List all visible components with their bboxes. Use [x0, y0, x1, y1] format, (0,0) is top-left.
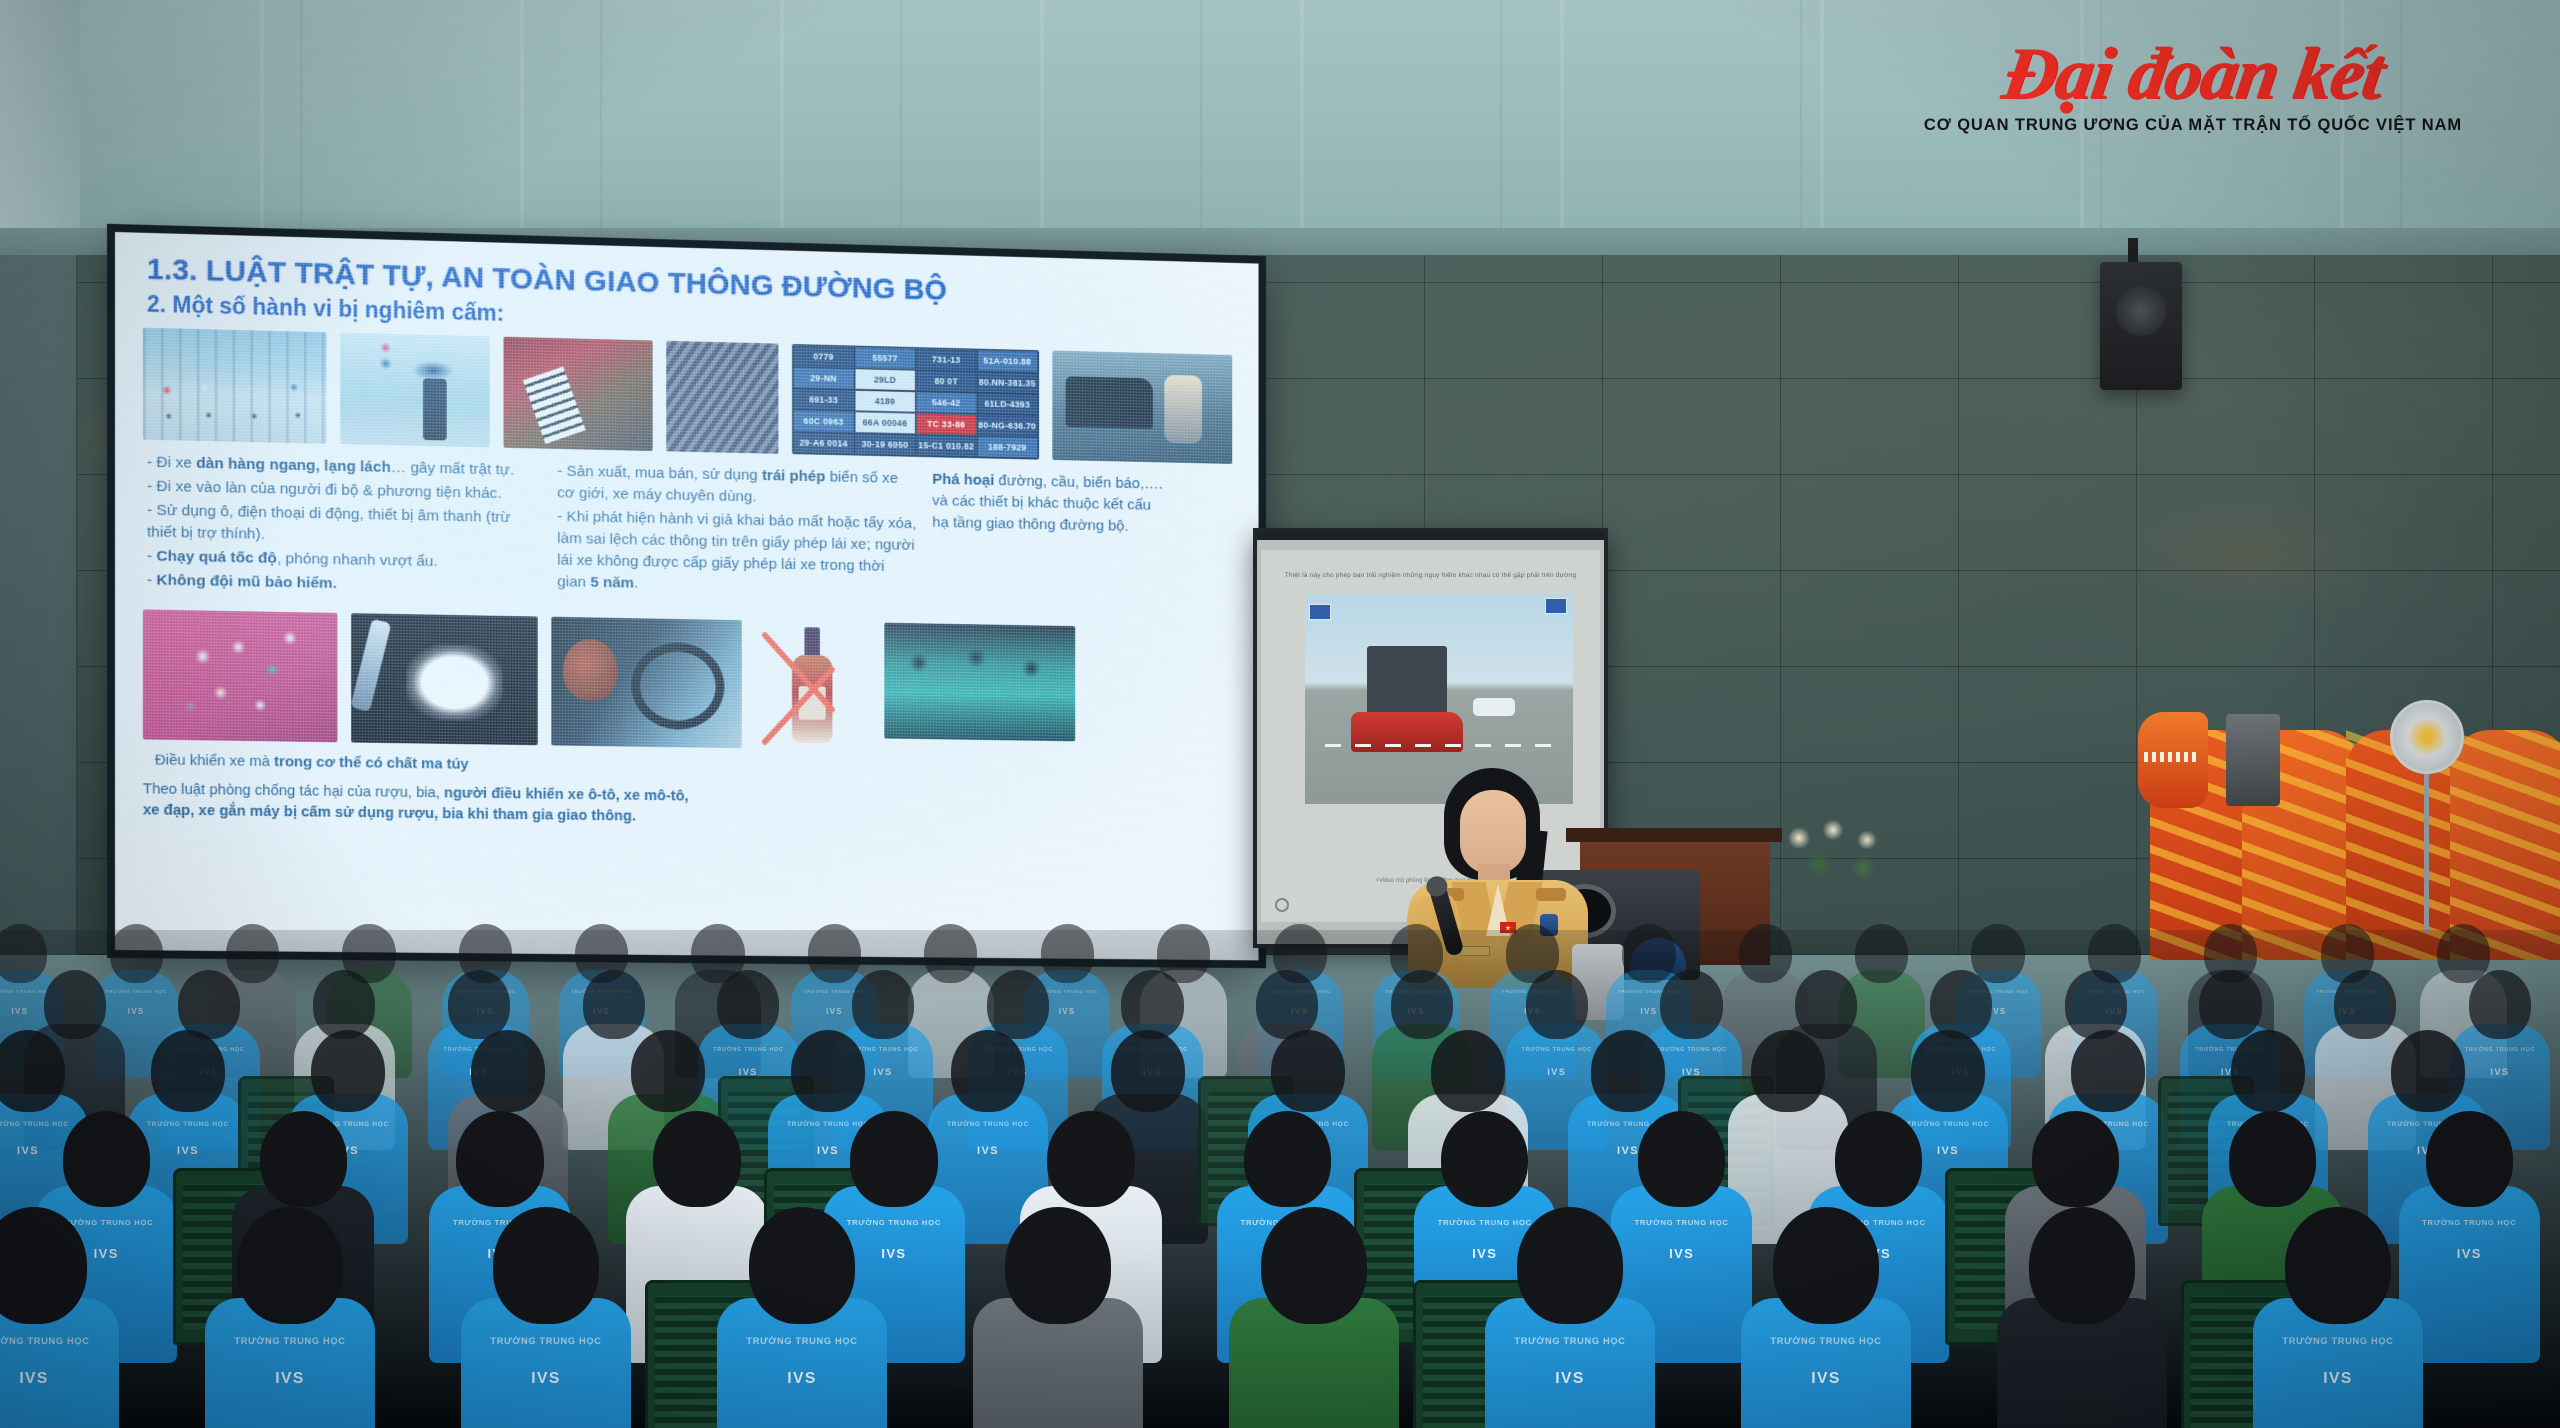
jacket-school-text: TRƯỜNG TRUNG HỌC	[1907, 1121, 1989, 1128]
jacket-logo-text: IVS	[1669, 1246, 1694, 1261]
audience-head	[1971, 924, 2024, 983]
ceremonial-fan-prop	[2390, 700, 2464, 774]
audience-head	[2391, 1030, 2465, 1112]
audience-head	[2437, 924, 2490, 983]
projector-watermark-icon	[1275, 898, 1289, 912]
audience-head	[63, 1111, 150, 1208]
audience-head	[2334, 970, 2396, 1039]
audience-head	[1835, 1111, 1922, 1208]
audience-head	[2285, 1207, 2390, 1323]
audience-head	[951, 1030, 1025, 1112]
audience-head	[1441, 1111, 1528, 1208]
jacket-school-text: TRƯỜNG TRUNG HỌC	[2465, 1047, 2535, 1053]
audience-head	[1855, 924, 1908, 983]
motorbikes-riding-abreast-photo	[143, 328, 326, 444]
jacket-logo-text: IVS	[17, 1145, 39, 1157]
audience-head	[1591, 1030, 1665, 1112]
presentation-slide: 1.3. LUẬT TRẬT TỰ, AN TOÀN GIAO THÔNG ĐƯ…	[115, 232, 1259, 960]
projector-header-text: Thiệt là này cho phép bạn trải nghiệm nh…	[1271, 572, 1590, 579]
plate-cell: 188-7929	[978, 437, 1037, 458]
audience-head	[1391, 970, 1453, 1039]
jacket-school-text: TRƯỜNG TRUNG HỌC	[0, 989, 51, 994]
jacket-school-text: TRƯỜNG TRUNG HỌC	[0, 1121, 69, 1128]
jacket-logo-text: IVS	[2490, 1067, 2509, 1077]
student-audience: TRƯỜNG TRUNG HỌCIVSTRƯỜNG TRUNG HỌCIVSTR…	[0, 930, 2560, 1428]
jacket-school-text: TRƯỜNG TRUNG HỌC	[2282, 1336, 2393, 1346]
plate-cell: 4189	[855, 391, 914, 412]
speaker-face	[1460, 790, 1526, 874]
jacket-school-text: TRƯỜNG TRUNG HỌC	[2422, 1218, 2516, 1227]
jacket-school-text: TRƯỜNG TRUNG HỌC	[787, 1121, 869, 1128]
audience-head	[2071, 1030, 2145, 1112]
plate-cell: 731-13	[917, 349, 976, 370]
rider-with-umbrella-photo	[340, 333, 489, 448]
plate-cell: 55577	[855, 348, 914, 369]
jacket-school-text: TRƯỜNG TRUNG HỌC	[1656, 1047, 1726, 1053]
audience-head	[2199, 970, 2261, 1039]
audience-head	[1739, 924, 1792, 983]
jacket-school-text: TRƯỜNG TRUNG HỌC	[1514, 1336, 1625, 1346]
flower-arrangement	[1775, 812, 1905, 890]
jacket-logo-text: IVS	[1547, 1067, 1566, 1077]
plate-cell: 29LD	[855, 369, 914, 390]
audience-head	[471, 1030, 545, 1112]
audience-head	[311, 1030, 385, 1112]
audience-head	[0, 1030, 65, 1112]
jacket-logo-text: IVS	[1811, 1370, 1840, 1388]
audience-head	[2229, 1111, 2316, 1208]
jacket-logo-text: IVS	[531, 1370, 560, 1388]
audience-head	[0, 924, 47, 983]
truck-shape	[1367, 646, 1447, 718]
audience-head	[631, 1030, 705, 1112]
jacket-logo-text: IVS	[2457, 1246, 2482, 1261]
fake-plate-sheets-photo	[667, 341, 779, 454]
prohibited-acts-column-1: - Đi xe dàn hàng ngang, lạng lách… gây m…	[147, 452, 542, 601]
audience-head	[1660, 970, 1722, 1039]
audience-head	[717, 970, 779, 1039]
audience-head	[924, 924, 977, 983]
projector-screen-top-bar	[1253, 528, 1608, 540]
audience-head	[850, 1111, 937, 1208]
audience-head	[2032, 1111, 2119, 1208]
audience-head	[2426, 1111, 2513, 1208]
wall-loudspeaker	[2100, 262, 2182, 390]
audience-head	[1638, 1111, 1725, 1208]
jacket-logo-text: IVS	[1059, 1007, 1076, 1016]
jacket-logo-text: IVS	[1937, 1145, 1959, 1157]
audience-head	[808, 924, 861, 983]
jacket-logo-text: IVS	[787, 1370, 816, 1388]
audience-head	[1111, 1030, 1185, 1112]
bullet-line: - Sử dụng ô, điện thoại di động, thiết b…	[147, 500, 542, 552]
audience-head	[44, 970, 106, 1039]
jacket-logo-text: IVS	[19, 1370, 48, 1388]
audience-head	[1795, 970, 1857, 1039]
ceremonial-banner-prop	[2226, 714, 2280, 806]
jacket-logo-text: IVS	[874, 1067, 893, 1077]
plate-cell: 29-A6 0014	[794, 433, 854, 454]
jacket-logo-text: IVS	[817, 1145, 839, 1157]
uniform-epaulette-right	[1536, 888, 1566, 901]
audience-head	[1431, 1030, 1505, 1112]
audience-head	[448, 970, 510, 1039]
plate-cell: 60C 0963	[794, 411, 854, 432]
publication-logo: Đại đoàn kết CƠ QUAN TRUNG ƯƠNG CỦA MẶT …	[1898, 34, 2488, 146]
audience-head	[1517, 1207, 1622, 1323]
bullet-line: - Sản xuất, mua bán, sử dụng trái phép b…	[557, 461, 917, 512]
audience-head	[1271, 1030, 1345, 1112]
audience-head	[226, 924, 279, 983]
dragon-head-prop	[2138, 712, 2208, 808]
plate-cell: 546-42	[917, 392, 976, 413]
audience-head	[2029, 1207, 2134, 1323]
jacket-school-text: TRƯỜNG TRUNG HỌC	[947, 1121, 1029, 1128]
bottle-neck	[804, 627, 819, 657]
jacket-logo-text: IVS	[275, 1370, 304, 1388]
audience-head	[1622, 924, 1675, 983]
plate-cell: 80 0T	[917, 371, 976, 392]
jacket-school-text: TRƯỜNG TRUNG HỌC	[490, 1336, 601, 1346]
audience-seating: TRƯỜNG TRUNG HỌCIVSTRƯỜNG TRUNG HỌCIVSTR…	[0, 930, 2560, 1428]
logo-tagline: CƠ QUAN TRUNG ƯƠNG CỦA MẶT TRẬN TỔ QUỐC …	[1898, 116, 2488, 135]
audience-head	[1911, 1030, 1985, 1112]
plate-cell: 51A-010.88	[978, 351, 1037, 372]
audience-head	[1041, 924, 1094, 983]
jacket-logo-text: IVS	[177, 1145, 199, 1157]
jacket-school-text: TRƯỜNG TRUNG HỌC	[847, 1218, 941, 1227]
audience-head	[1773, 1207, 1878, 1323]
jacket-logo-text: IVS	[1990, 1007, 2007, 1016]
left-wall-panel	[0, 255, 78, 955]
audience-head	[2469, 970, 2531, 1039]
audience-head	[456, 1111, 543, 1208]
plate-cell: 15-C1 010.82	[917, 435, 976, 456]
slide-photo-row-top: 0779 55577 731-13 51A-010.88 29-NN 29LD …	[143, 328, 1232, 464]
audience-head	[791, 1030, 865, 1112]
license-plate-grid-photo: 0779 55577 731-13 51A-010.88 29-NN 29LD …	[792, 344, 1039, 460]
audience-head	[583, 970, 645, 1039]
jacket-school-text: TRƯỜNG TRUNG HỌC	[1770, 1336, 1881, 1346]
plate-cell: 80-NG-636.70	[978, 415, 1037, 436]
jacket-school-text: TRƯỜNG TRUNG HỌC	[1522, 1047, 1592, 1053]
bullet-line: - Khi phát hiện hành vi giả khai báo mất…	[557, 506, 917, 600]
plate-cell: 80.NN-381.35	[978, 372, 1037, 393]
plate-cell: 61LD-4393	[978, 394, 1037, 415]
audience-head	[313, 970, 375, 1039]
fan-pole	[2424, 772, 2429, 932]
audience-head	[1244, 1111, 1331, 1208]
jacket-logo-text: IVS	[1555, 1370, 1584, 1388]
audience-head	[493, 1207, 598, 1323]
drunk-driver-photo	[551, 617, 741, 748]
road-lane-marking	[1325, 744, 1553, 747]
audience-head	[749, 1207, 854, 1323]
plate-cell: 29-NN	[794, 368, 854, 389]
jacket-school-text: TRƯỜNG TRUNG HỌC	[746, 1336, 857, 1346]
audience-head	[1256, 970, 1318, 1039]
audience-head	[987, 970, 1049, 1039]
plate-cell: 30-19 6950	[855, 434, 914, 455]
logo-wordmark: Đại đoàn kết	[1892, 34, 2495, 114]
audience-head	[237, 1207, 342, 1323]
jacket-logo-text: IVS	[2323, 1370, 2352, 1388]
fake-license-plate-stack-photo	[503, 337, 653, 451]
jacket-logo-text: IVS	[881, 1246, 906, 1261]
photo-scene: Đại đoàn kết CƠ QUAN TRUNG ƯƠNG CỦA MẶT …	[0, 0, 2560, 1428]
jacket-logo-text: IVS	[826, 1007, 843, 1016]
audience-head	[1930, 970, 1992, 1039]
jacket-logo-text: IVS	[1617, 1145, 1639, 1157]
jacket-school-text: TRƯỜNG TRUNG HỌC	[1438, 1218, 1532, 1227]
jacket-school-text: TRƯỜNG TRUNG HỌC	[105, 989, 167, 994]
blue-road-sign-icon	[1545, 598, 1567, 614]
bullet-line: Phá hoại đường, cầu, biển báo,…. và các …	[932, 469, 1170, 538]
audience-head	[1261, 1207, 1366, 1323]
audience-head	[151, 1030, 225, 1112]
jacket-school-text: TRƯỜNG TRUNG HỌC	[234, 1336, 345, 1346]
audience-head	[1047, 1111, 1134, 1208]
left-column	[0, 0, 80, 258]
audience-head	[1526, 970, 1588, 1039]
white-car-shape	[1473, 698, 1515, 716]
jacket-logo-text: IVS	[94, 1246, 119, 1261]
jacket-school-text: TRƯỜNG TRUNG HỌC	[147, 1121, 229, 1128]
alcohol-caption: Theo luật phòng chống tác hại của rượu, …	[143, 778, 693, 827]
prohibited-acts-column-3: Phá hoại đường, cầu, biển báo,…. và các …	[932, 469, 1170, 612]
audience-head	[653, 1111, 740, 1208]
jacket-school-text: TRƯỜNG TRUNG HỌC	[713, 1047, 783, 1053]
jacket-school-text: TRƯỜNG TRUNG HỌC	[1634, 1218, 1728, 1227]
led-wall-display: 1.3. LUẬT TRẬT TỰ, AN TOÀN GIAO THÔNG ĐƯ…	[115, 232, 1259, 960]
audience-head	[2231, 1030, 2305, 1112]
audience-head	[110, 924, 163, 983]
plate-cell: 66A 00046	[855, 412, 914, 433]
road-barrier-vandalism-photo	[1052, 351, 1232, 464]
blue-road-sign-icon	[1309, 604, 1331, 620]
audience-head	[2065, 970, 2127, 1039]
audience-head	[852, 970, 914, 1039]
audience-head	[1121, 970, 1183, 1039]
jacket-logo-text: IVS	[11, 1007, 28, 1016]
audience-head	[178, 970, 240, 1039]
plate-cell: TC 33-86	[917, 414, 976, 435]
plate-grid: 0779 55577 731-13 51A-010.88 29-NN 29LD …	[792, 344, 1039, 460]
prohibited-acts-column-2: - Sản xuất, mua bán, sử dụng trái phép b…	[557, 461, 917, 608]
jacket-school-text: TRƯỜNG TRUNG HỌC	[0, 1336, 90, 1346]
plate-cell: 0779	[794, 346, 854, 367]
audience-head	[260, 1111, 347, 1208]
drug-caption: Điều khiển xe mà trong cơ thể có chất ma…	[155, 750, 540, 776]
slide-text-columns: - Đi xe dàn hàng ngang, lạng lách… gây m…	[147, 452, 1228, 614]
slide-photo-row-bottom	[143, 609, 1232, 755]
crowd-festival-photo	[884, 623, 1075, 741]
audience-head	[1005, 1207, 1110, 1323]
crystal-meth-powder-photo	[351, 613, 538, 745]
plate-cell: 691-33	[794, 389, 854, 410]
jacket-logo-text: IVS	[1641, 1007, 1658, 1016]
ecstasy-pills-photo	[143, 609, 337, 742]
jacket-logo-text: IVS	[977, 1145, 999, 1157]
audience-head	[1751, 1030, 1825, 1112]
jacket-logo-text: IVS	[128, 1007, 145, 1016]
dragon-dance-costumes	[2150, 700, 2560, 960]
alcohol-bottle-prohibited-icon	[755, 620, 871, 750]
jacket-logo-text: IVS	[1472, 1246, 1497, 1261]
